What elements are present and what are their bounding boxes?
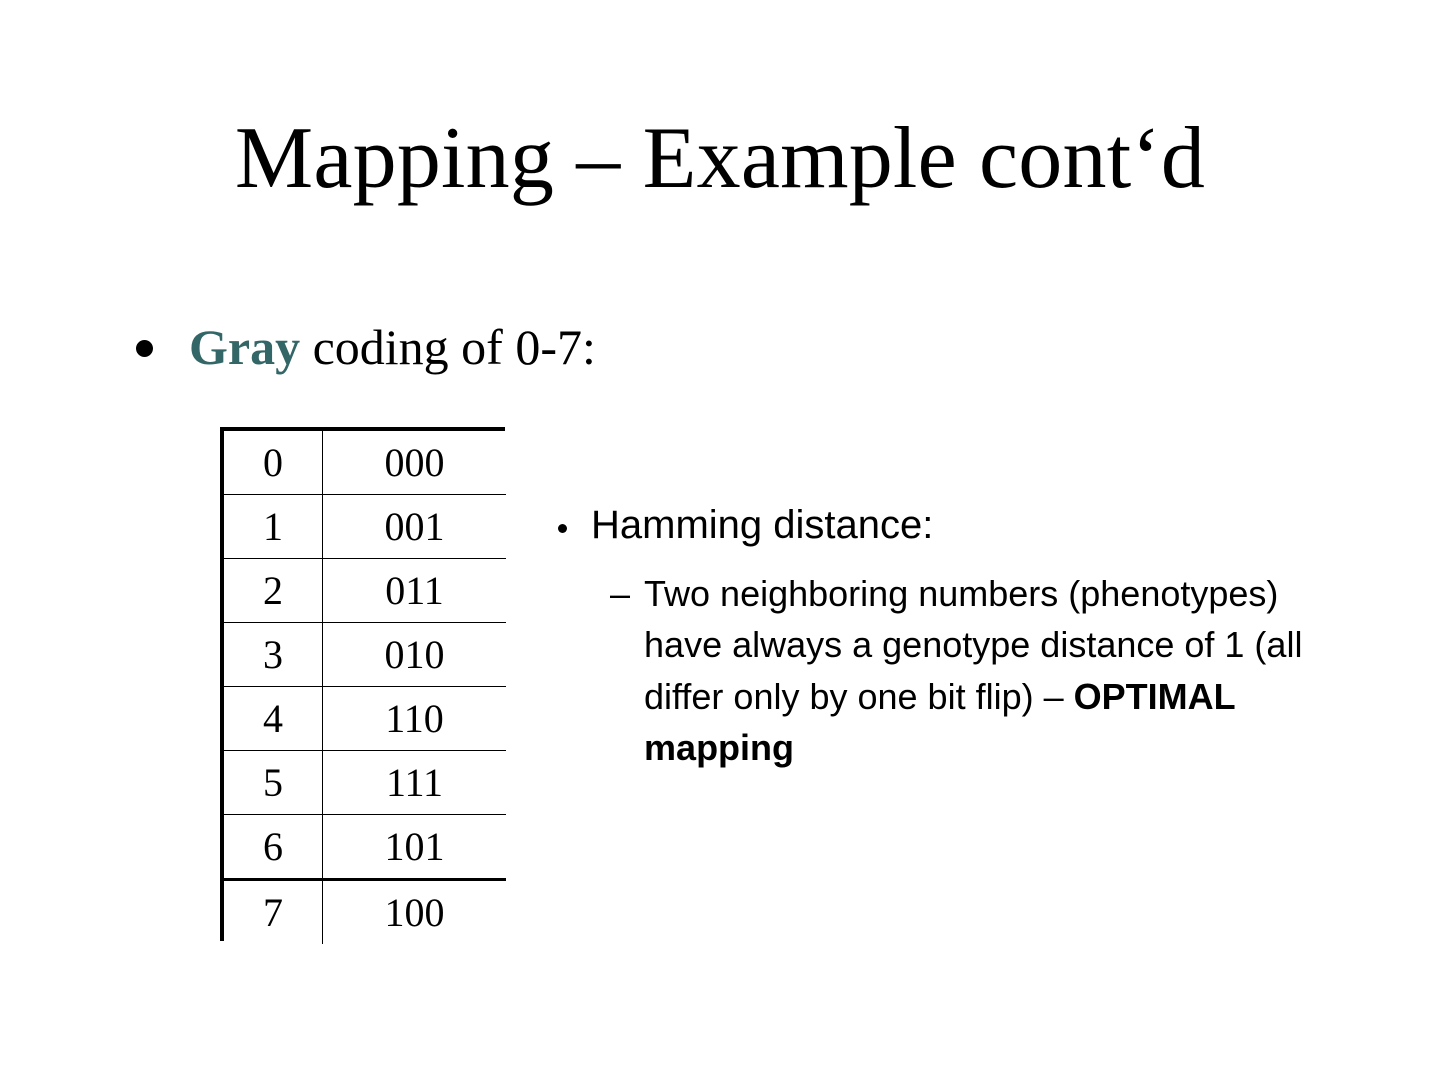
table-row: 2 011	[224, 559, 506, 623]
table-row: 5 111	[224, 751, 506, 815]
table-row: 6 101	[224, 815, 506, 880]
cell-decimal: 5	[224, 751, 323, 815]
cell-gray: 000	[323, 431, 507, 495]
slide-canvas: Mapping – Example cont‘d Gray coding of …	[0, 0, 1440, 1080]
cell-gray: 001	[323, 495, 507, 559]
table-row: 3 010	[224, 623, 506, 687]
cell-gray: 100	[323, 880, 507, 945]
table-row: 7 100	[224, 880, 506, 945]
bullet-gray-coding-rest: coding of 0-7:	[300, 319, 596, 375]
cell-decimal: 2	[224, 559, 323, 623]
bullet-gray-coding-lead: Gray	[189, 319, 300, 375]
cell-decimal: 1	[224, 495, 323, 559]
cell-gray: 010	[323, 623, 507, 687]
cell-gray: 110	[323, 687, 507, 751]
hamming-distance-block: Hamming distance: – Two neighboring numb…	[558, 502, 1378, 774]
bullet-dot-icon	[558, 524, 567, 533]
cell-decimal: 7	[224, 880, 323, 945]
gray-code-table: 0 000 1 001 2 011 3 010 4 110	[220, 427, 505, 941]
cell-gray: 011	[323, 559, 507, 623]
cell-gray: 111	[323, 751, 507, 815]
sub-bullet-text: Two neighboring numbers (phenotypes) hav…	[644, 568, 1356, 774]
bullet-hamming-distance-text: Hamming distance:	[591, 502, 933, 548]
dash-bullet-icon: –	[610, 568, 630, 619]
cell-decimal: 4	[224, 687, 323, 751]
bullet-dot-icon	[136, 340, 153, 357]
page-title: Mapping – Example cont‘d	[0, 112, 1440, 205]
cell-gray: 101	[323, 815, 507, 880]
table-row: 4 110	[224, 687, 506, 751]
sub-bullet-neighboring-numbers: – Two neighboring numbers (phenotypes) h…	[610, 568, 1378, 774]
bullet-gray-coding-text: Gray coding of 0-7:	[189, 318, 596, 377]
bullet-gray-coding: Gray coding of 0-7:	[136, 318, 596, 377]
bullet-hamming-distance: Hamming distance:	[558, 502, 1378, 548]
cell-decimal: 6	[224, 815, 323, 880]
table-row: 0 000	[224, 431, 506, 495]
table-row: 1 001	[224, 495, 506, 559]
cell-decimal: 3	[224, 623, 323, 687]
cell-decimal: 0	[224, 431, 323, 495]
